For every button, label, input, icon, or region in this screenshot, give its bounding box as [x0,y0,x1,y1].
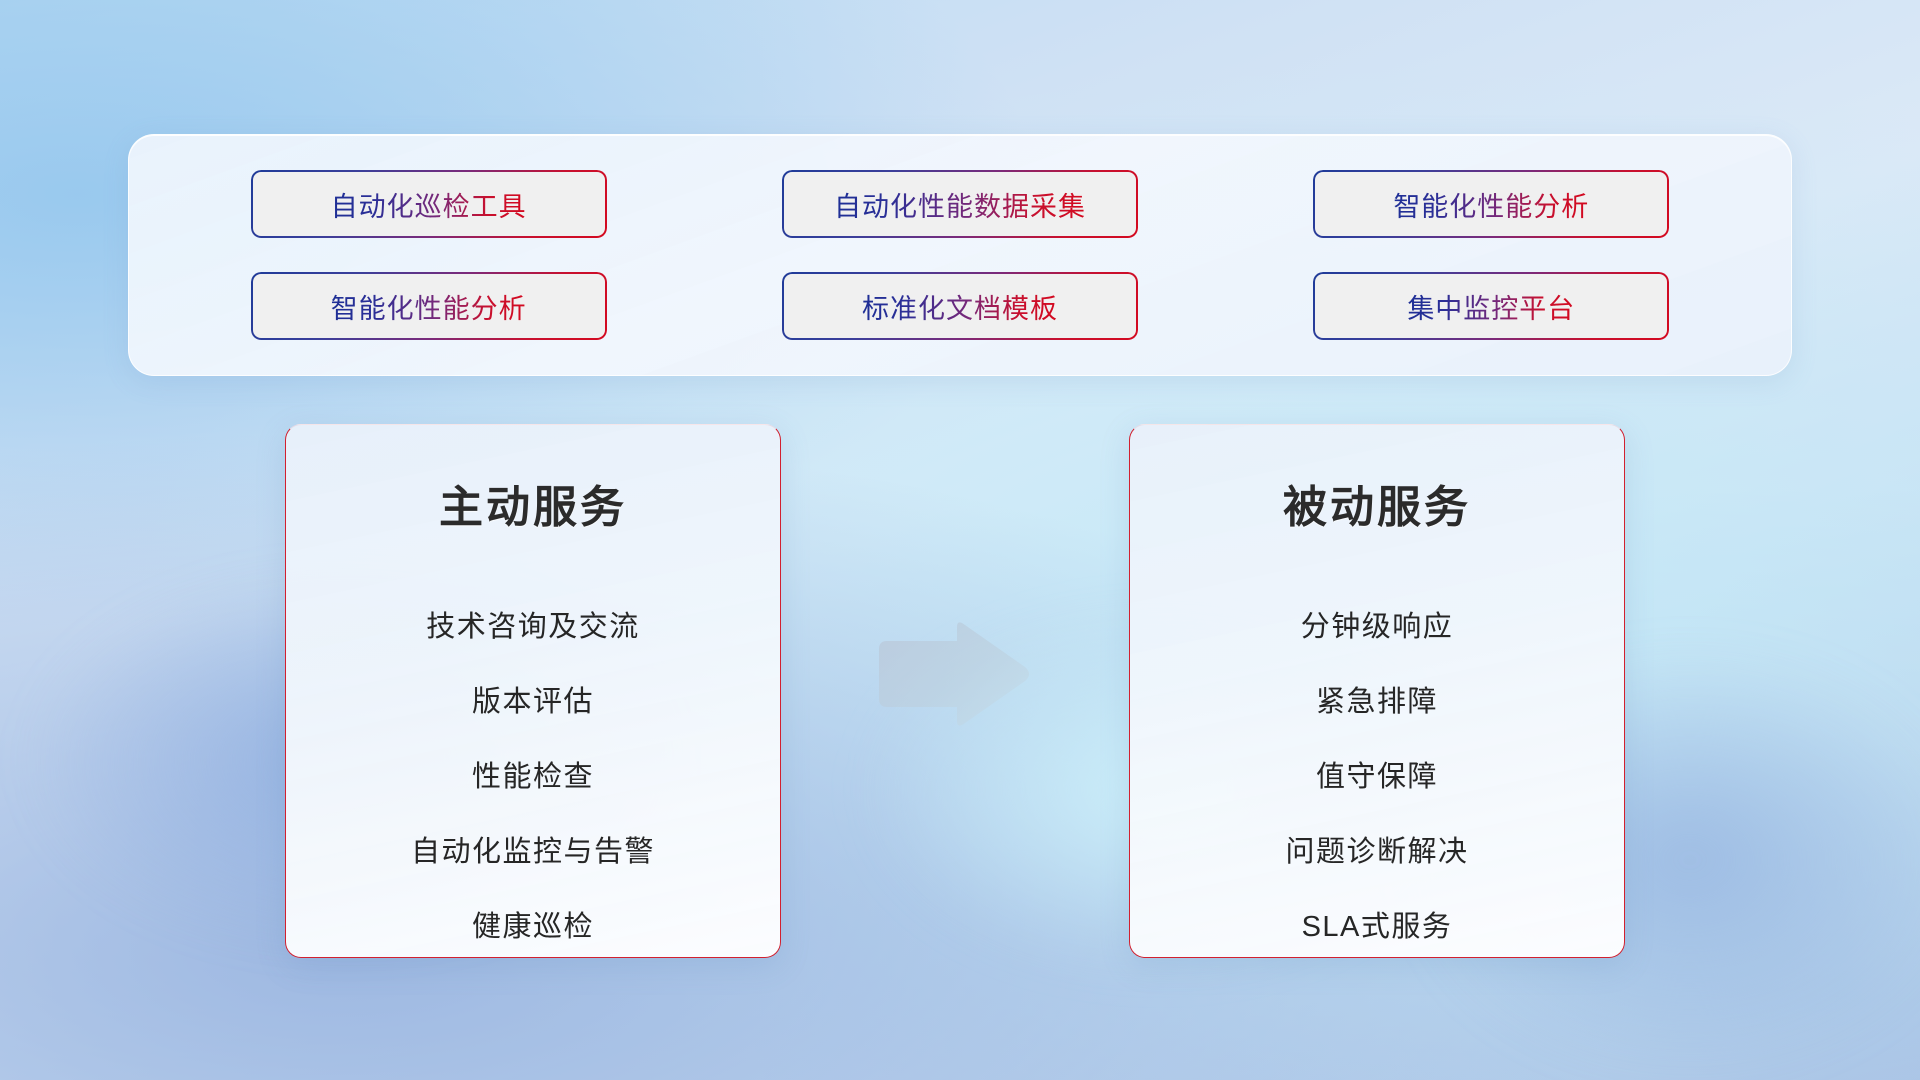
tool-tag-label: 自动化性能数据采集 [834,185,1086,224]
service-item-list-active: 技术咨询及交流 版本评估 性能检查 自动化监控与告警 健康巡检 [316,603,750,945]
service-card-active[interactable]: 主动服务 技术咨询及交流 版本评估 性能检查 自动化监控与告警 健康巡检 [285,424,781,958]
list-item: 技术咨询及交流 [426,603,640,645]
tool-tag-label: 自动化巡检工具 [331,185,527,224]
tool-tag-central-monitoring-platform[interactable]: 集中监控平台 [1313,272,1669,340]
card-title-active: 主动服务 [439,471,627,535]
tool-tag-label: 标准化文档模板 [862,287,1058,326]
tool-tag-intelligent-perf-analysis-2[interactable]: 智能化性能分析 [251,272,607,340]
tool-tag-label: 集中监控平台 [1407,287,1575,326]
list-item: 自动化监控与告警 [411,828,655,870]
list-item: 值守保障 [1316,753,1438,795]
capability-tools-panel: 自动化巡检工具 自动化性能数据采集 智能化性能分析 智能化性能分析 标准化文档模… [128,134,1792,376]
arrow-right-icon [873,619,1033,729]
list-item: 问题诊断解决 [1285,828,1468,870]
tool-tag-label: 智能化性能分析 [1393,185,1589,224]
list-item: SLA式服务 [1302,903,1453,945]
tool-tag-label: 智能化性能分析 [331,287,527,326]
list-item: 健康巡检 [472,903,594,945]
list-item: 分钟级响应 [1301,603,1454,645]
list-item: 性能检查 [472,753,594,795]
tool-tag-automation-inspection[interactable]: 自动化巡检工具 [251,170,607,238]
arrow-right-icon-svg [873,619,1033,729]
service-card-passive[interactable]: 被动服务 分钟级响应 紧急排障 值守保障 问题诊断解决 SLA式服务 [1129,424,1625,958]
list-item: 版本评估 [472,678,594,720]
tool-tag-intelligent-perf-analysis[interactable]: 智能化性能分析 [1313,170,1669,238]
tool-tag-automation-perf-collection[interactable]: 自动化性能数据采集 [782,170,1138,238]
list-item: 紧急排障 [1316,678,1438,720]
card-title-passive: 被动服务 [1283,471,1471,535]
service-item-list-passive: 分钟级响应 紧急排障 值守保障 问题诊断解决 SLA式服务 [1160,603,1594,945]
tool-tag-standard-doc-template[interactable]: 标准化文档模板 [782,272,1138,340]
